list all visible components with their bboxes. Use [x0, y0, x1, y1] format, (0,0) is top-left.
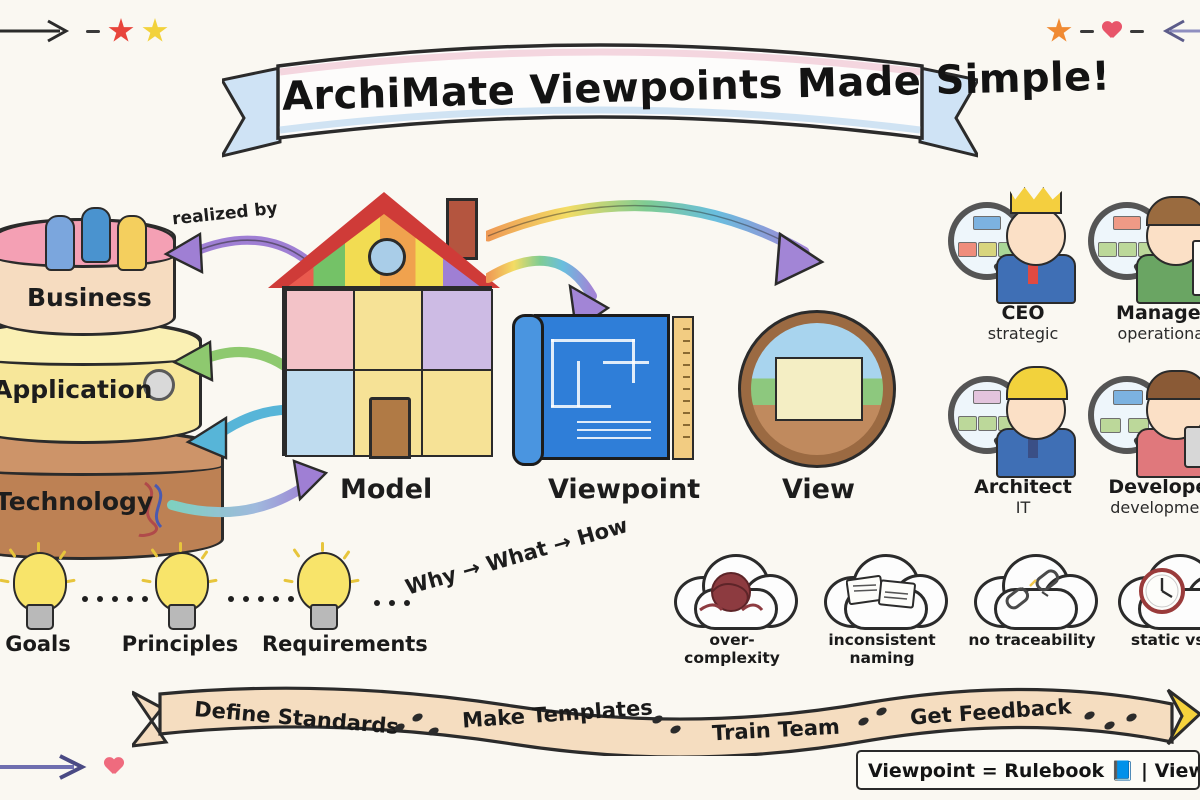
- infographic-canvas: ArchiMate Viewpoints Made Simple! Techno…: [0, 0, 1200, 800]
- pitfall-static-vs-dynamic: static vs d: [1106, 548, 1200, 650]
- persona-name: CEO: [948, 302, 1098, 324]
- motivation-label: Principles: [120, 632, 240, 656]
- arrow-right-icon: [0, 754, 96, 780]
- viewpoint-blueprint-icon: [512, 308, 688, 473]
- cloud-icon: [968, 548, 1096, 628]
- house-room: [421, 369, 493, 457]
- view-porthole-icon: [738, 310, 896, 468]
- label-view: View: [782, 474, 855, 505]
- pitfall-label: over-complexity: [662, 632, 802, 668]
- blueprint-sheet: [534, 314, 670, 460]
- persona-name: Architect: [948, 476, 1098, 498]
- bulb-glass: [297, 552, 351, 612]
- blueprint-roll: [512, 314, 544, 466]
- motivation-item-requirements: Requirements: [262, 552, 382, 656]
- persona-avatar: [948, 362, 1080, 474]
- house-body: [282, 286, 492, 456]
- name-tags-icon: [846, 568, 918, 614]
- persona-avatar: [948, 188, 1080, 300]
- persona-avatar: [1088, 188, 1200, 300]
- persona-head: [1006, 206, 1066, 266]
- pitfall-no-traceability: no traceability: [962, 548, 1102, 650]
- star-icon: [1046, 18, 1072, 44]
- motivation-item-principles: Principles: [120, 552, 240, 656]
- porthole-screen: [775, 357, 863, 421]
- persona-avatar: [1088, 362, 1200, 474]
- porthole-interior: [751, 323, 883, 455]
- motivation-item-goals: Goals: [0, 552, 98, 656]
- hardhat-icon: [1006, 366, 1068, 400]
- house-room: [421, 289, 493, 373]
- ruler-icon: [672, 316, 694, 460]
- bulb-glass: [155, 552, 209, 612]
- house-room: [285, 289, 357, 373]
- model-house-icon: [268, 192, 500, 472]
- footer-note-text: Viewpoint = Rulebook 📘 | View = Current …: [868, 759, 1200, 782]
- motivation-label: Requirements: [262, 632, 382, 656]
- pitfall-inconsistent-naming: inconsistent naming: [812, 548, 952, 668]
- pitfall-label: inconsistent naming: [812, 632, 952, 668]
- decoration-bottom-left: [0, 754, 124, 780]
- house-door-icon: [369, 397, 411, 459]
- persona-name: Manager: [1088, 302, 1200, 324]
- bulb-base: [310, 604, 338, 630]
- motivation-annotation: Why → What → How: [403, 513, 631, 599]
- decoration-top-right: [1046, 18, 1200, 44]
- hair-icon: [1146, 196, 1200, 226]
- clipboard-icon: [1192, 240, 1200, 296]
- pitfall-label: no traceability: [962, 632, 1102, 650]
- bulb-base: [168, 604, 196, 630]
- footer-definition-note: Viewpoint = Rulebook 📘 | View = Current …: [856, 750, 1200, 790]
- bulb-glass: [13, 552, 67, 612]
- lightbulb-icon: [149, 552, 211, 626]
- heart-icon: [104, 758, 124, 776]
- cloud-icon: [818, 548, 946, 628]
- heart-icon: [1102, 22, 1122, 40]
- dotted-connector: [374, 600, 410, 606]
- stakeholder-manager[interactable]: Manager operational: [1088, 188, 1200, 343]
- cloud-icon: [668, 548, 796, 628]
- persona-role: operational: [1088, 324, 1200, 343]
- star-icon: [142, 18, 168, 44]
- decoration-top-left: [0, 18, 168, 44]
- label-model: Model: [340, 474, 432, 505]
- dash-mark: [86, 30, 100, 33]
- laptop-icon: [1184, 426, 1200, 468]
- bulb-base: [26, 604, 54, 630]
- lightbulb-icon: [7, 552, 69, 626]
- house-room: [353, 289, 425, 373]
- stakeholder-ceo[interactable]: CEO strategic: [948, 188, 1098, 343]
- label-viewpoint: Viewpoint: [548, 474, 700, 505]
- attic-window-icon: [368, 238, 406, 276]
- tangled-yarn-icon: [698, 570, 764, 614]
- lightbulb-icon: [291, 552, 353, 626]
- cake-label-business: Business: [27, 283, 152, 312]
- persona-role: development: [1088, 498, 1200, 517]
- stakeholder-architect[interactable]: Architect IT: [948, 362, 1098, 517]
- arrow-right-icon: [0, 18, 78, 44]
- roadmap-ribbon: Define Standards Make Templates Train Te…: [132, 684, 1200, 756]
- person-figurine-icon: [117, 215, 147, 271]
- crown-icon: [1010, 186, 1062, 214]
- dash-mark: [1130, 30, 1144, 33]
- arrow-left-icon: [1152, 18, 1200, 44]
- hair-icon: [1146, 370, 1200, 400]
- house-room: [285, 369, 357, 457]
- clock-icon: [1136, 566, 1192, 616]
- pitfall-over-complexity: over-complexity: [662, 548, 802, 668]
- cake-label-technology: Technology: [0, 487, 153, 516]
- persona-role: IT: [948, 498, 1098, 517]
- title-banner: ArchiMate Viewpoints Made Simple!: [222, 38, 978, 183]
- pitfall-label: static vs d: [1106, 632, 1200, 650]
- dash-mark: [1080, 30, 1094, 33]
- person-figurine-icon: [45, 215, 75, 271]
- persona-name: Developer: [1088, 476, 1200, 498]
- stakeholder-developer[interactable]: Developer development: [1088, 362, 1200, 517]
- star-icon: [108, 18, 134, 44]
- person-figurine-icon: [81, 207, 111, 263]
- cloud-icon: [1112, 548, 1200, 628]
- persona-role: strategic: [948, 324, 1098, 343]
- cake-label-application: Application: [0, 375, 152, 404]
- motivation-label: Goals: [0, 632, 98, 656]
- broken-chain-icon: [1002, 566, 1064, 614]
